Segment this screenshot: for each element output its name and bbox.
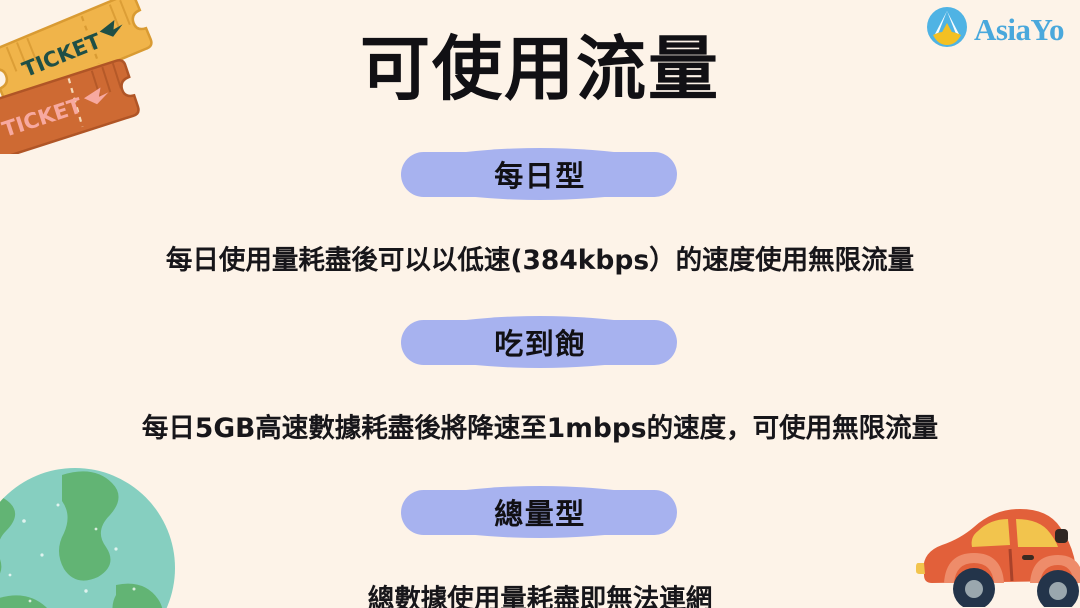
description-unlimited: 每日5GB高速數據耗盡後將降速至1mbps的速度，可使用無限流量: [0, 412, 1080, 445]
section-total: 總量型 總數據使用量耗盡即無法連網: [0, 486, 1080, 608]
description-total: 總數據使用量耗盡即無法連網: [0, 583, 1080, 608]
badge-daily[interactable]: 每日型: [407, 148, 673, 200]
badge-unlimited[interactable]: 吃到飽: [407, 316, 673, 368]
page-title: 可使用流量: [0, 30, 1080, 108]
badge-unlimited-label: 吃到飽: [494, 321, 586, 363]
badge-total[interactable]: 總量型: [407, 486, 673, 538]
slide-canvas: TICKET TICKET: [0, 0, 1080, 608]
content-stack: 每日型 每日使用量耗盡後可以以低速(384kbps）的速度使用無限流量 吃到飽 …: [0, 148, 1080, 608]
badge-total-label: 總量型: [494, 491, 586, 533]
section-unlimited: 吃到飽 每日5GB高速數據耗盡後將降速至1mbps的速度，可使用無限流量: [0, 316, 1080, 445]
badge-daily-label: 每日型: [494, 153, 586, 195]
section-daily: 每日型 每日使用量耗盡後可以以低速(384kbps）的速度使用無限流量: [0, 148, 1080, 277]
description-daily: 每日使用量耗盡後可以以低速(384kbps）的速度使用無限流量: [0, 244, 1080, 277]
